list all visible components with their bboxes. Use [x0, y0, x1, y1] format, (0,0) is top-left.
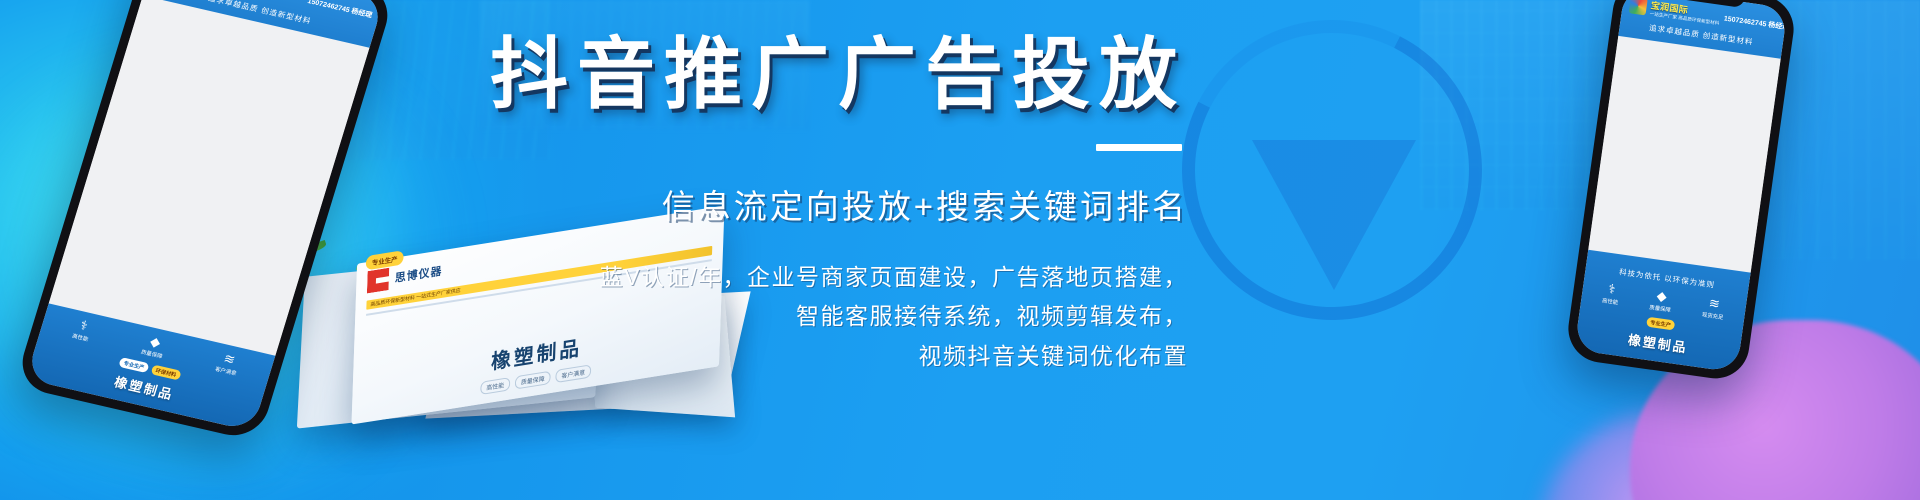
feature-caption: 质量保障: [140, 348, 163, 361]
badge-pill: 专业生产: [1646, 317, 1676, 331]
waves-icon: ≋: [1708, 296, 1721, 310]
banner-body-line: 视频抖音关键词优化布置: [288, 337, 1188, 377]
feature-caption: 高性能: [1602, 296, 1619, 306]
feature-item: ◆ 质量保障: [1649, 288, 1674, 314]
feature-item: ⚕ 高性能: [1602, 281, 1621, 306]
banner-body-text: 蓝V认证/年，企业号商家页面建设，广告落地页搭建， 智能客服接待系统，视频剪辑发…: [288, 258, 1188, 377]
brand-logo-icon: [1629, 0, 1648, 15]
phone-screen-right: 宝润国际 一站生产厂家 高品质环保新型材料 15072462745 杨经理 追求…: [1574, 0, 1788, 373]
feature-caption: 质量保障: [1649, 303, 1671, 314]
feature-item: ≋ 客户满意: [214, 350, 242, 377]
title-divider: [1096, 144, 1182, 151]
phone-right-footer: 科技为依托 以环保为准则 ⚕ 高性能 ◆ 质量保障 ≋ 现货充足: [1574, 250, 1750, 373]
banner-title: 抖音推广广告投放: [288, 34, 1188, 116]
brochure-tag: 高性能: [480, 377, 510, 395]
feature-caption: 高性能: [71, 332, 89, 343]
feature-caption: 现货充足: [1701, 310, 1723, 321]
banner-body-line: 智能客服接待系统，视频剪辑发布，: [288, 297, 1188, 337]
waves-icon: ≋: [222, 352, 236, 367]
feature-item: ◆ 质量保障: [140, 333, 168, 360]
feature-caption: 客户满意: [214, 365, 237, 378]
diamond-icon: ◆: [149, 335, 163, 350]
feature-item: ≋ 现货充足: [1701, 295, 1726, 321]
performance-icon: ⚕: [1607, 282, 1616, 296]
performance-icon: ⚕: [79, 318, 90, 332]
triangle-down-decoration: [1252, 140, 1416, 290]
badge-pill: 环保材料: [151, 364, 182, 380]
diamond-icon: ◆: [1656, 289, 1668, 303]
promo-banner: 宝润国际 一站生产厂家 高品质环保新型材料 15072462745 杨经理 追求…: [0, 0, 1920, 500]
phone-right-phone-number: 15072462745 杨经理: [1723, 13, 1787, 32]
banner-subtitle: 信息流定向投放+搜索关键词排名: [288, 180, 1188, 228]
phone-right-body: [1588, 36, 1780, 273]
banner-body-line: 蓝V认证/年，企业号商家页面建设，广告落地页搭建，: [288, 258, 1188, 298]
feature-item: ⚕ 高性能: [71, 317, 94, 343]
badge-pill: 专业生产: [119, 357, 150, 373]
banner-copy-block: 抖音推广广告投放 信息流定向投放+搜索关键词排名 蓝V认证/年，企业号商家页面建…: [288, 34, 1188, 377]
